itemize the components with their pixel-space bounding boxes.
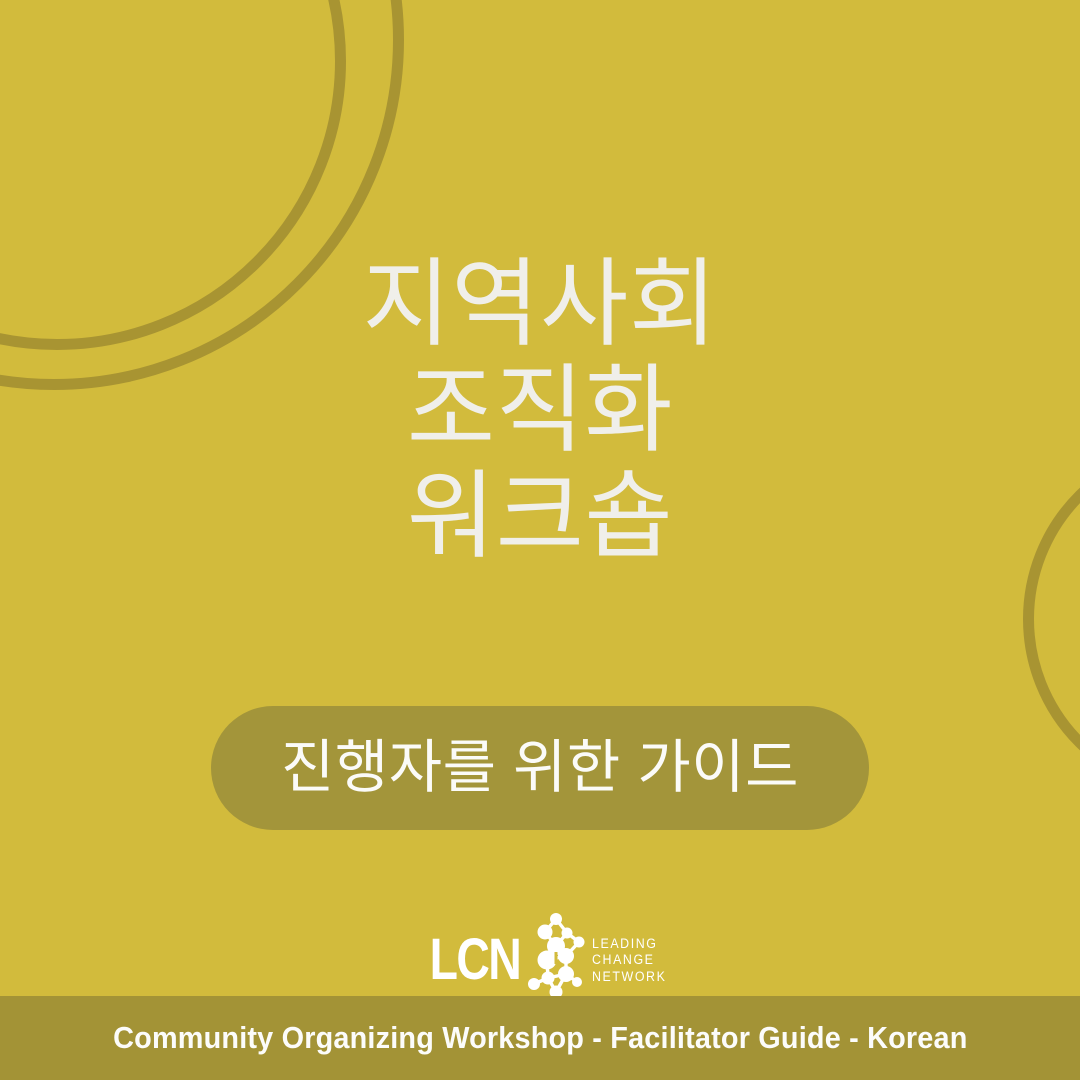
lcn-logo: LCN [407,912,673,1008]
lcn-tagline-line-3: NETWORK [592,969,666,986]
lcn-wordmark: LCN [430,931,521,989]
page-title: 지역사회 조직화 워크숍 [362,252,717,570]
subtitle-badge: 진행자를 위한 가이드 [211,706,869,830]
lcn-tagline: LEADING CHANGE NETWORK [592,936,666,986]
footer-caption: Community Organizing Workshop - Facilita… [113,1021,967,1055]
lcn-tagline-line-2: CHANGE [592,952,666,969]
footer-bar: Community Organizing Workshop - Facilita… [0,996,1080,1080]
page-title-line-1: 지역사회 [362,252,717,358]
subtitle-badge-label: 진행자를 위한 가이드 [281,738,799,798]
cover-slide: 지역사회 조직화 워크숍 진행자를 위한 가이드 LCN [0,0,1080,1080]
page-title-line-2: 조직화 [362,358,717,464]
page-title-line-3: 워크숍 [362,464,717,570]
network-nodes-icon [525,912,587,1008]
lcn-tagline-line-1: LEADING [592,936,666,953]
cover-content: 지역사회 조직화 워크숍 진행자를 위한 가이드 LCN [0,0,1080,1080]
